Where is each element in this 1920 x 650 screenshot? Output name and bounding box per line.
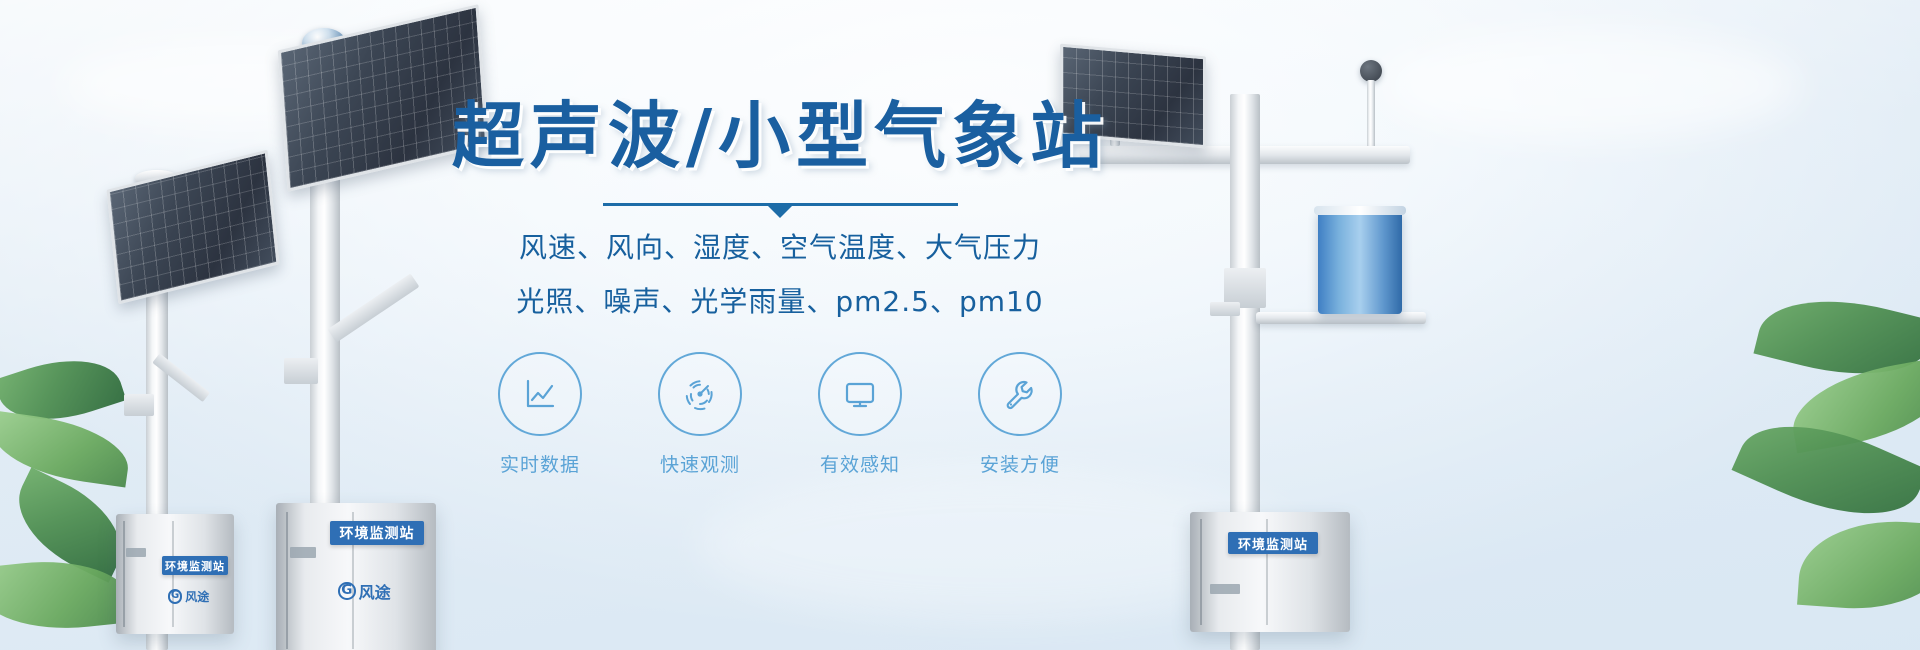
cabinet-vent (1210, 584, 1240, 594)
panel-bracket (1210, 302, 1240, 316)
brand-logo: G 风途 (338, 579, 391, 603)
equipment-cabinet: 环境监测站 G 风途 (276, 503, 436, 650)
cabinet-vent (290, 547, 316, 558)
caret-down-icon (767, 205, 793, 218)
wrench-tool-icon (978, 352, 1062, 436)
feature-label: 有效感知 (808, 450, 912, 477)
panel-support-arm (328, 273, 420, 342)
feature-item-realtime-data[interactable]: 实时数据 (488, 352, 592, 477)
brand-logo: G 风途 (168, 588, 209, 605)
feature-label: 安装方便 (968, 450, 1072, 477)
feature-label: 快速观测 (648, 450, 752, 477)
cabinet-vent (126, 548, 146, 557)
panel-bracket (124, 394, 154, 416)
panel-bracket (284, 358, 318, 384)
feature-item-easy-installation[interactable]: 安装方便 (968, 352, 1072, 477)
rain-gauge-rim (1314, 206, 1406, 215)
feature-label: 实时数据 (488, 450, 592, 477)
equipment-cabinet: 环境监测站 (1190, 512, 1350, 632)
monitor-screen-icon (818, 352, 902, 436)
cabinet-sign: 环境监测站 (1228, 532, 1318, 554)
brand-mark-icon: G (338, 582, 356, 600)
brand-name: 风途 (359, 579, 391, 603)
optical-rain-gauge (1318, 210, 1402, 314)
solar-panel (106, 150, 279, 305)
equipment-cabinet: 环境监测站 G 风途 (116, 514, 234, 634)
brand-mark-icon: G (168, 589, 182, 603)
brand-name: 风途 (185, 588, 209, 605)
cabinet-sign: 环境监测站 (330, 521, 424, 545)
title-divider (603, 203, 958, 206)
camera-sensor-icon (1360, 60, 1382, 82)
subtitle-line-1: 风速、风向、湿度、空气温度、大气压力 (430, 226, 1130, 266)
leaf-right-4 (1797, 515, 1920, 615)
line-chart-icon (498, 352, 582, 436)
banner-copy-block: 超声波/小型气象站 风速、风向、湿度、空气温度、大气压力 光照、噪声、光学雨量、… (430, 96, 1130, 477)
feature-list: 实时数据 快速 (430, 352, 1130, 477)
feature-item-effective-sensing[interactable]: 有效感知 (808, 352, 912, 477)
radar-sensor-icon (658, 352, 742, 436)
feature-item-fast-observation[interactable]: 快速观测 (648, 352, 752, 477)
page-title: 超声波/小型气象站 (430, 96, 1130, 177)
subtitle-line-2: 光照、噪声、光学雨量、pm2.5、pm10 (430, 280, 1130, 320)
product-banner: 环境监测站 G 风途 环境监测站 G 风途 (0, 0, 1920, 650)
cabinet-sign: 环境监测站 (162, 556, 228, 575)
